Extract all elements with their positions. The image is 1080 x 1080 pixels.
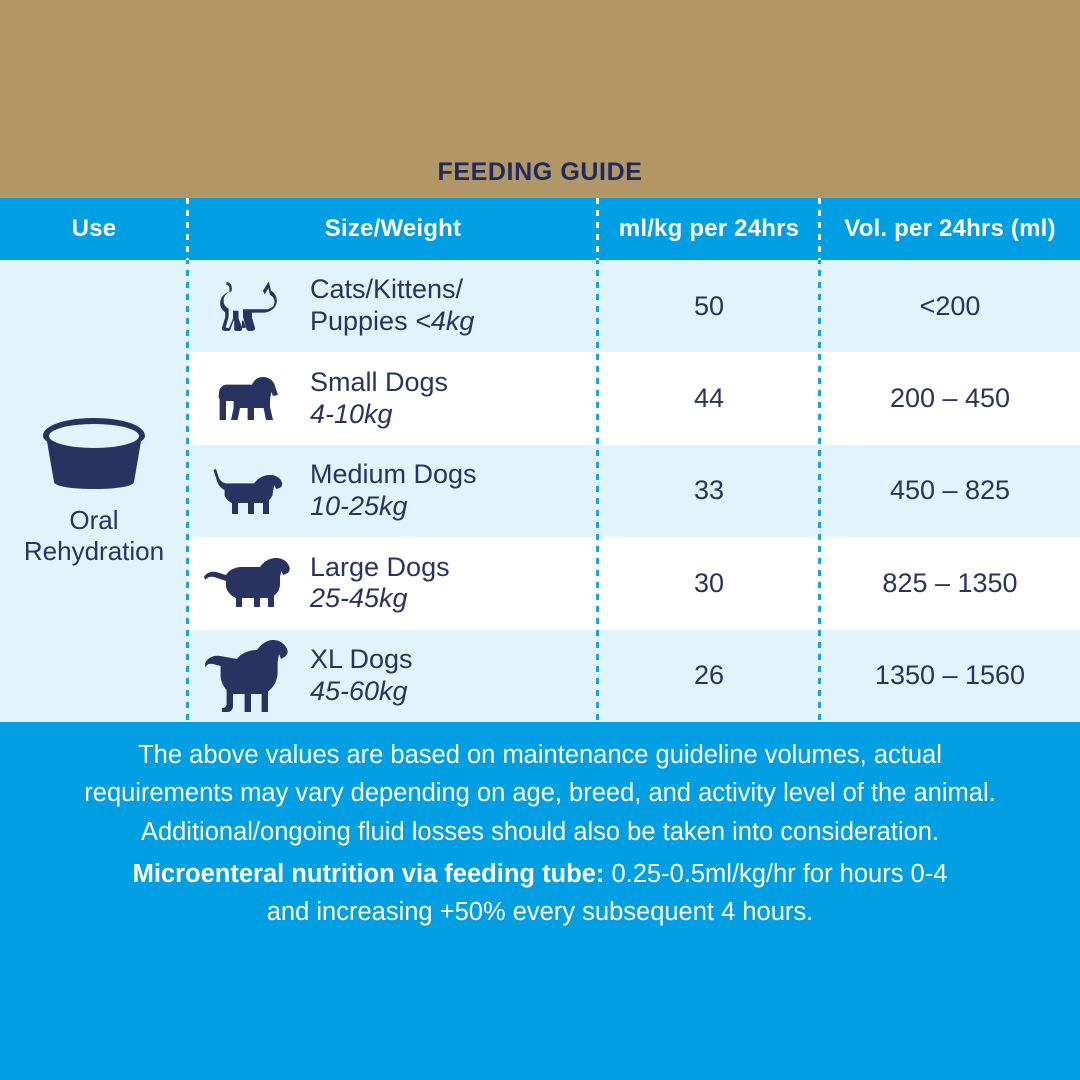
column-divider-3 [818, 198, 821, 722]
volume-value: <200 [820, 260, 1080, 352]
dog-bowl-icon [35, 416, 153, 495]
use-label: Oral Rehydration [24, 505, 164, 566]
volume-value: 450 – 825 [820, 445, 1080, 537]
cat-icon [188, 260, 308, 352]
animal-name: Cats/Kittens/ [310, 274, 474, 306]
animal-weight: 45-60kg [310, 676, 413, 708]
medium-dog-icon [188, 445, 308, 537]
table-row: Medium Dogs 10-25kg 33 450 – 825 [188, 445, 1080, 537]
footer-line-3: Additional/ongoing fluid losses should a… [0, 813, 1080, 851]
column-header-ml-per-kg: ml/kg per 24hrs [598, 198, 820, 260]
page-title: FEEDING GUIDE [0, 158, 1080, 187]
feeding-guide-infographic: FEEDING GUIDE Use Size/Weight ml/kg per … [0, 0, 1080, 1080]
table-body: Oral Rehydration Cats/Kittens/ Puppies <… [0, 260, 1080, 722]
volume-value: 825 – 1350 [820, 537, 1080, 629]
ml-per-kg-value: 26 [598, 630, 820, 722]
header-divider-3 [818, 198, 821, 260]
size-weight-cell: Medium Dogs 10-25kg [188, 445, 598, 537]
animal-name: Small Dogs [310, 367, 448, 399]
footer-line-1: The above values are based on maintenanc… [0, 736, 1080, 774]
ml-per-kg-value: 44 [598, 352, 820, 444]
microenteral-label: Microenteral nutrition via feeding tube: [133, 860, 605, 888]
use-label-line1: Oral [24, 505, 164, 536]
size-weight-text: Small Dogs 4-10kg [308, 367, 448, 431]
animal-name: Medium Dogs [310, 459, 477, 491]
use-column-cell: Oral Rehydration [0, 260, 188, 722]
size-weight-text: Cats/Kittens/ Puppies <4kg [308, 274, 474, 338]
use-label-line2: Rehydration [24, 536, 164, 567]
ml-per-kg-value: 33 [598, 445, 820, 537]
header-divider-1 [186, 198, 189, 260]
size-weight-text: Large Dogs 25-45kg [308, 552, 450, 616]
volume-value: 200 – 450 [820, 352, 1080, 444]
animal-weight: 25-45kg [310, 583, 450, 615]
animal-weight: 10-25kg [310, 491, 477, 523]
animal-weight: <4kg [415, 306, 474, 336]
small-dog-icon [188, 352, 308, 444]
table-row: XL Dogs 45-60kg 26 1350 – 1560 [188, 630, 1080, 722]
large-dog-icon [188, 537, 308, 629]
table-rows: Cats/Kittens/ Puppies <4kg 50 <200 [188, 260, 1080, 722]
column-header-size-weight: Size/Weight [188, 198, 598, 260]
header-divider-2 [596, 198, 599, 260]
footer-line-2: requirements may vary depending on age, … [0, 774, 1080, 812]
table-row: Small Dogs 4-10kg 44 200 – 450 [188, 352, 1080, 444]
animal-weight: 4-10kg [310, 399, 448, 431]
size-weight-cell: Large Dogs 25-45kg [188, 537, 598, 629]
microenteral-value: 0.25-0.5ml/kg/hr for hours 0-4 [604, 860, 947, 888]
size-weight-cell: Small Dogs 4-10kg [188, 352, 598, 444]
footer-notes: The above values are based on maintenanc… [0, 722, 1080, 1080]
footer-microenteral-line-2: and increasing +50% every subsequent 4 h… [0, 893, 1080, 931]
table-row: Large Dogs 25-45kg 30 825 – 1350 [188, 537, 1080, 629]
column-header-use: Use [0, 198, 188, 260]
size-weight-cell: XL Dogs 45-60kg [188, 630, 598, 722]
column-divider-2 [596, 198, 599, 722]
column-header-volume: Vol. per 24hrs (ml) [820, 198, 1080, 260]
size-weight-cell: Cats/Kittens/ Puppies <4kg [188, 260, 598, 352]
footer-microenteral-line: Microenteral nutrition via feeding tube:… [0, 855, 1080, 893]
ml-per-kg-value: 30 [598, 537, 820, 629]
size-weight-text: XL Dogs 45-60kg [308, 644, 413, 708]
animal-name-2: Puppies [310, 306, 415, 336]
table-row: Cats/Kittens/ Puppies <4kg 50 <200 [188, 260, 1080, 352]
volume-value: 1350 – 1560 [820, 630, 1080, 722]
table-header-row: Use Size/Weight ml/kg per 24hrs Vol. per… [0, 198, 1080, 260]
xl-dog-icon [188, 630, 308, 722]
size-weight-text: Medium Dogs 10-25kg [308, 459, 477, 523]
ml-per-kg-value: 50 [598, 260, 820, 352]
animal-name: Large Dogs [310, 552, 450, 584]
animal-name: XL Dogs [310, 644, 413, 676]
column-divider-1 [186, 198, 189, 722]
